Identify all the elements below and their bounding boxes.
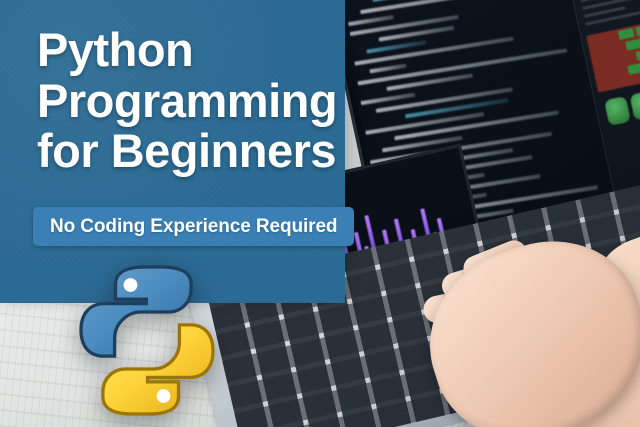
python-logo-eye — [157, 389, 171, 403]
headline-line-2: Programming — [37, 78, 357, 125]
python-logo — [62, 258, 232, 423]
block-chart — [586, 19, 640, 93]
headline-block: Python Programming for Beginners — [37, 27, 357, 175]
pill-badge-icon — [629, 91, 640, 121]
python-logo-blue-snake — [81, 267, 191, 356]
banner-image: Python Programming for Beginners No Codi… — [0, 0, 640, 427]
panel-text-lines — [577, 0, 640, 26]
subtitle-badge: No Coding Experience Required — [33, 207, 354, 246]
headline-line-3: for Beginners — [37, 128, 357, 175]
python-logo-yellow-snake — [103, 325, 213, 414]
subtitle-badge-label: No Coding Experience Required — [50, 216, 337, 238]
headline-line-1: Python — [37, 27, 357, 74]
pill-badge-icon — [604, 96, 631, 126]
python-logo-eye — [124, 278, 138, 292]
